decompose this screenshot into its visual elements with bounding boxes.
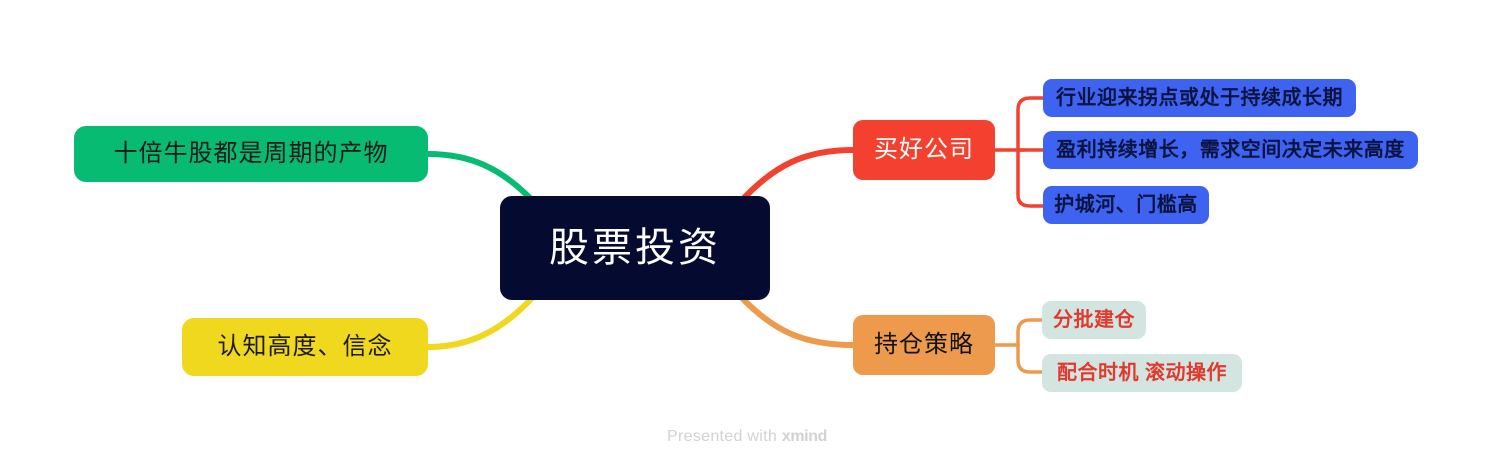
xmind-logo: xmind [782, 428, 827, 445]
branch-node-ten-bagger[interactable]: 十倍牛股都是周期的产物 [74, 126, 428, 182]
leaf-node-industry-inflection[interactable]: 行业迎来拐点或处于持续成长期 [1043, 79, 1356, 117]
connector-orange-bracket [995, 320, 1042, 372]
connector-green [428, 154, 530, 198]
branch-node-position-strategy[interactable]: 持仓策略 [853, 315, 995, 375]
root-node[interactable]: 股票投资 [500, 196, 770, 300]
watermark-prefix: Presented with [667, 428, 782, 445]
connector-yellow [428, 298, 532, 347]
leaf-node-profit-growth[interactable]: 盈利持续增长，需求空间决定未来高度 [1043, 131, 1418, 169]
branch-node-buy-good-company[interactable]: 买好公司 [853, 120, 995, 180]
leaf-node-timing-rolling[interactable]: 配合时机 滚动操作 [1042, 354, 1242, 392]
connector-red [742, 150, 853, 200]
leaf-node-batch-build[interactable]: 分批建仓 [1042, 301, 1146, 339]
leaf-node-moat-barrier[interactable]: 护城河、门槛高 [1043, 186, 1209, 224]
branch-node-cognition[interactable]: 认知高度、信念 [182, 318, 428, 376]
connector-orange [742, 298, 853, 345]
xmind-watermark: Presented with xmind [0, 428, 1494, 446]
connector-red-bracket [995, 98, 1043, 206]
mindmap-canvas: 股票投资 十倍牛股都是周期的产物 认知高度、信念 买好公司 行业迎来拐点或处于持… [0, 0, 1494, 471]
